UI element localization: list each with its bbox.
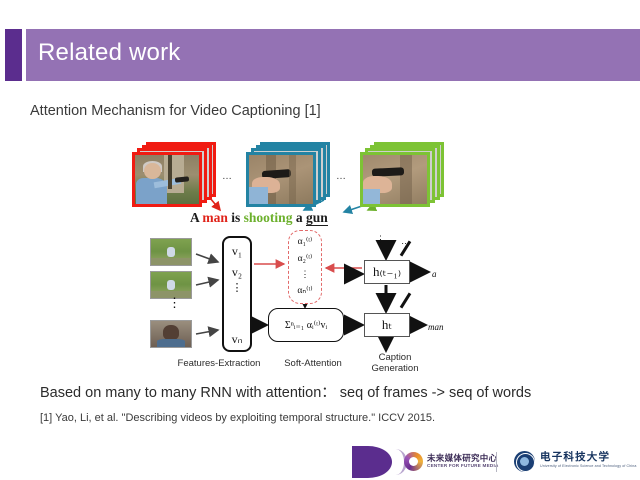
logo-uestc: 电子科技大学 University of Electronic Science … — [514, 451, 636, 472]
video-frame-photo — [135, 155, 199, 204]
architecture-diagram: ⋮ v₁ v₂ ⋮ vₙ α₁⁽ᵗ⁾ α₂⁽ᵗ⁾ ⋮ αₙ⁽ᵗ⁾ Σⁿᵢ₌₁ α… — [128, 234, 458, 378]
page-title: Related work — [38, 39, 180, 67]
rnn-dots-left: … — [343, 272, 352, 282]
uestc-logo-icon — [514, 451, 535, 472]
reference-citation: [1] Yao, Li, et al. "Describing videos b… — [40, 412, 435, 424]
output-word-prev: a — [432, 269, 437, 279]
frame-sheet-front — [132, 152, 202, 207]
rnn-dots-below: ⋮ — [381, 342, 390, 346]
output-word-curr: man — [428, 322, 444, 332]
caption-word-man: man — [202, 210, 228, 225]
stage-label-caption-line2: Generation — [356, 363, 434, 374]
stage-label-caption-line1: Caption — [356, 352, 434, 363]
feature-vector-v1: v₁ — [224, 244, 250, 259]
feature-vector-box: v₁ v₂ ⋮ vₙ — [222, 236, 252, 352]
slide-title-band: Related work — [0, 29, 640, 81]
caption-word-shooting: shooting — [244, 210, 293, 225]
attention-weight-a2: α₂⁽ᵗ⁾ — [289, 253, 321, 264]
embedding-dots-above: … — [401, 236, 410, 246]
caption-word-a1: A — [190, 210, 199, 225]
attention-weight-an: αₙ⁽ᵗ⁾ — [289, 285, 321, 296]
caption-word-gun: gun — [306, 210, 328, 226]
frame-sheet-front — [360, 152, 430, 207]
video-frame-photo — [363, 155, 427, 204]
uestc-logo-text-en: University of Electronic Science and Tec… — [540, 462, 636, 471]
cfm-logo-text-en: CENTER FOR FUTURE MEDIA — [427, 462, 499, 470]
feature-vector-dots: ⋮ — [224, 286, 250, 290]
weighted-sum-formula: Σⁿᵢ₌₁ αᵢ⁽ᵗ⁾vᵢ — [268, 308, 344, 342]
uestc-logo-text-cn: 电子科技大学 — [540, 453, 636, 462]
hidden-state-curr: hₜ — [364, 313, 410, 337]
input-frames-vertical-dots: ⋮ — [168, 300, 181, 305]
summary-statement: Based on many to many RNN with attention… — [40, 381, 531, 402]
feature-vector-vn: vₙ — [224, 332, 250, 347]
feature-vector-v2: v₂ — [224, 265, 250, 280]
rnn-dots-above: ⋮ — [376, 238, 385, 242]
attention-weight-a1: α₁⁽ᵗ⁾ — [289, 236, 321, 247]
attention-weight-dots: ⋮ — [289, 269, 321, 280]
logo-center-for-future-media: 未来媒体研究中心 CENTER FOR FUTURE MEDIA — [404, 452, 499, 471]
footer-divider — [496, 452, 497, 472]
attention-figure: … … — [128, 138, 458, 378]
footer-swoosh-decoration — [352, 446, 392, 478]
stage-label-caption: Caption Generation — [356, 352, 434, 374]
video-frame-photo — [249, 155, 313, 204]
video-caption-sentence: A man is shooting a gun — [190, 210, 328, 226]
stage-label-features: Features-Extraction — [164, 358, 274, 369]
hidden-state-prev: h₍ₜ₋₁₎ — [364, 260, 410, 284]
title-accent-bar — [5, 29, 22, 81]
caption-word-a2: a — [296, 210, 303, 225]
stage-label-attention: Soft-Attention — [270, 358, 356, 369]
attention-weights-box: α₁⁽ᵗ⁾ α₂⁽ᵗ⁾ ⋮ αₙ⁽ᵗ⁾ — [288, 230, 322, 304]
caption-word-is: is — [231, 210, 240, 225]
section-subtitle: Attention Mechanism for Video Captioning… — [30, 103, 321, 119]
cfm-logo-text-cn: 未来媒体研究中心 — [427, 454, 499, 462]
input-frame-thumbnail — [150, 238, 192, 266]
slide-footer: 未来媒体研究中心 CENTER FOR FUTURE MEDIA 电子科技大学 … — [0, 444, 640, 480]
input-frame-thumbnail — [150, 320, 192, 348]
frame-sheet-front — [246, 152, 316, 207]
cfm-logo-icon — [404, 452, 423, 471]
